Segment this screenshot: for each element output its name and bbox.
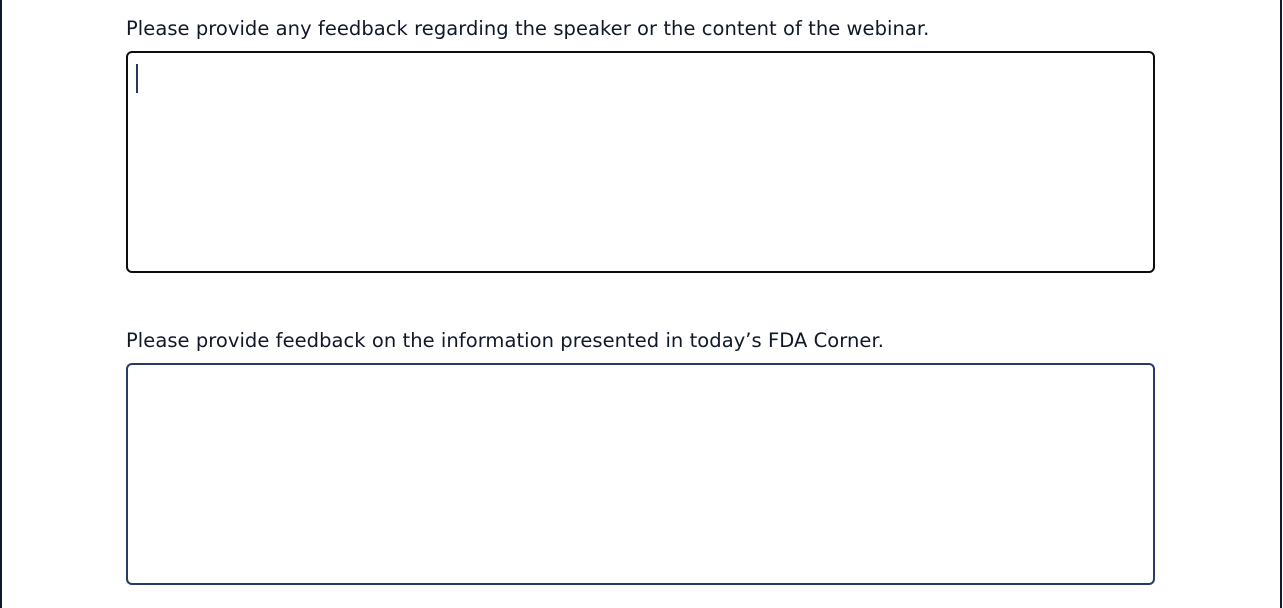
textarea-container-fda-corner-feedback[interactable] — [126, 363, 1155, 585]
question-label-fda-corner-feedback: Please provide feedback on the informati… — [126, 328, 1155, 354]
text-caret — [136, 64, 138, 93]
textarea-fda-corner-feedback[interactable] — [128, 365, 1153, 583]
question-fda-corner-feedback: Please provide feedback on the informati… — [126, 328, 1155, 585]
textarea-container-speaker-content-feedback[interactable] — [126, 51, 1155, 273]
feedback-form: Please provide any feedback regarding th… — [0, 0, 1283, 608]
textarea-speaker-content-feedback[interactable] — [128, 53, 1153, 271]
question-speaker-content-feedback: Please provide any feedback regarding th… — [126, 16, 1155, 273]
question-label-speaker-content-feedback: Please provide any feedback regarding th… — [126, 16, 1155, 42]
survey-page: Please provide any feedback regarding th… — [0, 0, 1283, 608]
